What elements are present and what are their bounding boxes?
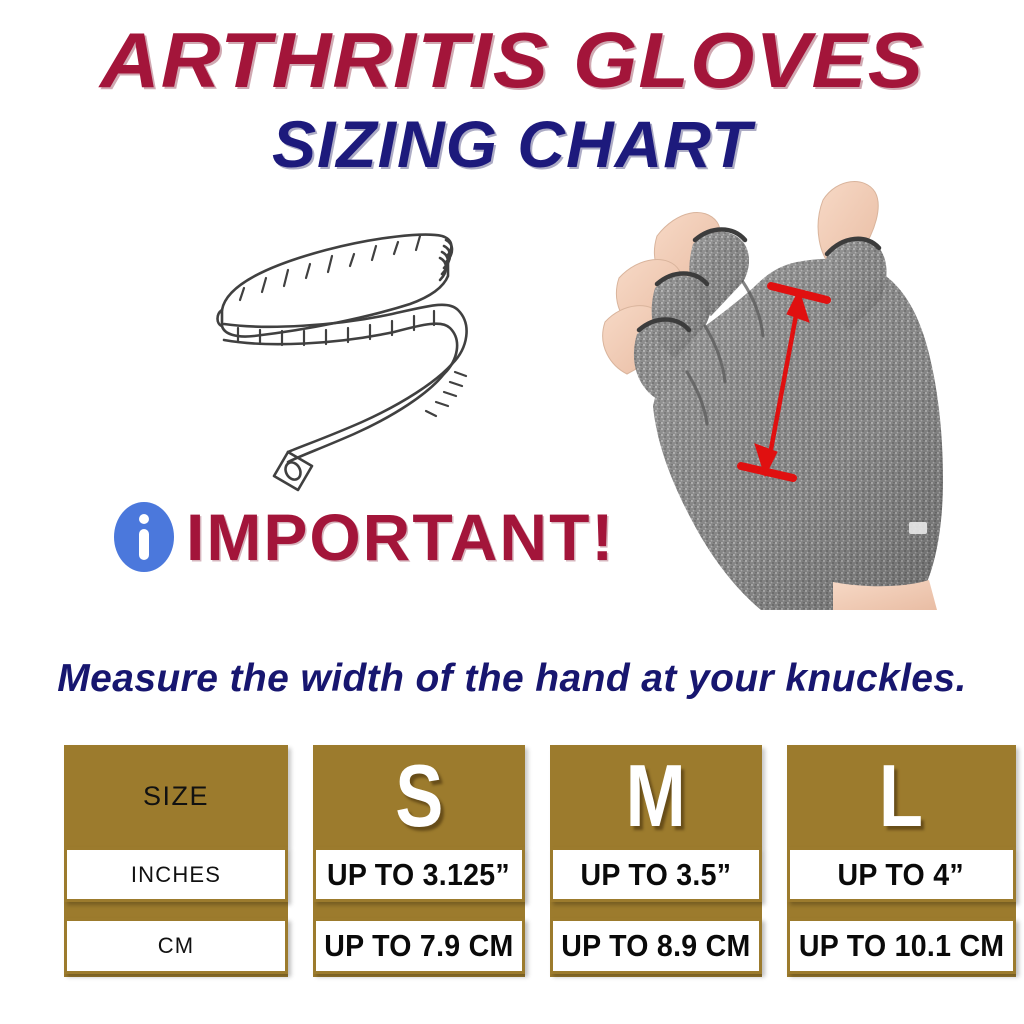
cell-small-cm: UP TO 7.9 CM — [313, 918, 525, 974]
size-header-small: S — [313, 745, 525, 847]
size-chart-table: SIZE INCHES CM S UP TO 3.125” UP TO 7.9 … — [64, 745, 974, 977]
cell-small-inches: UP TO 3.125” — [313, 847, 525, 902]
page-title: ARTHRITIS GLOVES SIZING CHART — [0, 18, 1024, 180]
cell-medium-inches-text: UP TO 3.5” — [580, 857, 731, 893]
info-circle-icon — [112, 500, 176, 574]
cell-large-cm-text: UP TO 10.1 CM — [798, 928, 1003, 964]
cell-small-cm-text: UP TO 7.9 CM — [324, 928, 513, 964]
title-arthritis-gloves: ARTHRITIS GLOVES — [0, 18, 1024, 102]
cell-large-cm: UP TO 10.1 CM — [787, 918, 1016, 974]
table-header-size: SIZE — [64, 745, 288, 847]
size-letter-medium: M — [626, 752, 686, 840]
table-column-labels: SIZE INCHES CM — [64, 745, 288, 977]
measuring-tape-icon — [196, 214, 536, 504]
important-label: IMPORTANT! — [186, 502, 615, 572]
cell-medium-inches: UP TO 3.5” — [550, 847, 762, 902]
row-label-inches: INCHES — [64, 847, 288, 902]
table-column-medium: M UP TO 3.5” UP TO 8.9 CM — [550, 745, 762, 977]
row-label-cm-text: CM — [158, 933, 195, 959]
size-letter-large: L — [879, 752, 923, 840]
size-header-medium: M — [550, 745, 762, 847]
table-column-large: L UP TO 4” UP TO 10.1 CM — [787, 745, 1016, 977]
size-header-large: L — [787, 745, 1016, 847]
cell-large-inches: UP TO 4” — [787, 847, 1016, 902]
cell-large-inches-text: UP TO 4” — [838, 857, 964, 893]
row-label-cm: CM — [64, 918, 288, 974]
table-column-small: S UP TO 3.125” UP TO 7.9 CM — [313, 745, 525, 977]
header-label-size: SIZE — [143, 781, 209, 812]
cell-medium-cm: UP TO 8.9 CM — [550, 918, 762, 974]
cell-small-inches-text: UP TO 3.125” — [327, 857, 510, 893]
cell-medium-cm-text: UP TO 8.9 CM — [561, 928, 750, 964]
instruction-text: Measure the width of the hand at your kn… — [0, 656, 1024, 702]
important-callout: IMPORTANT! — [112, 500, 615, 574]
size-letter-small: S — [395, 752, 443, 840]
hand-wearing-glove-photo — [565, 170, 1024, 610]
row-label-inches-text: INCHES — [131, 862, 221, 888]
